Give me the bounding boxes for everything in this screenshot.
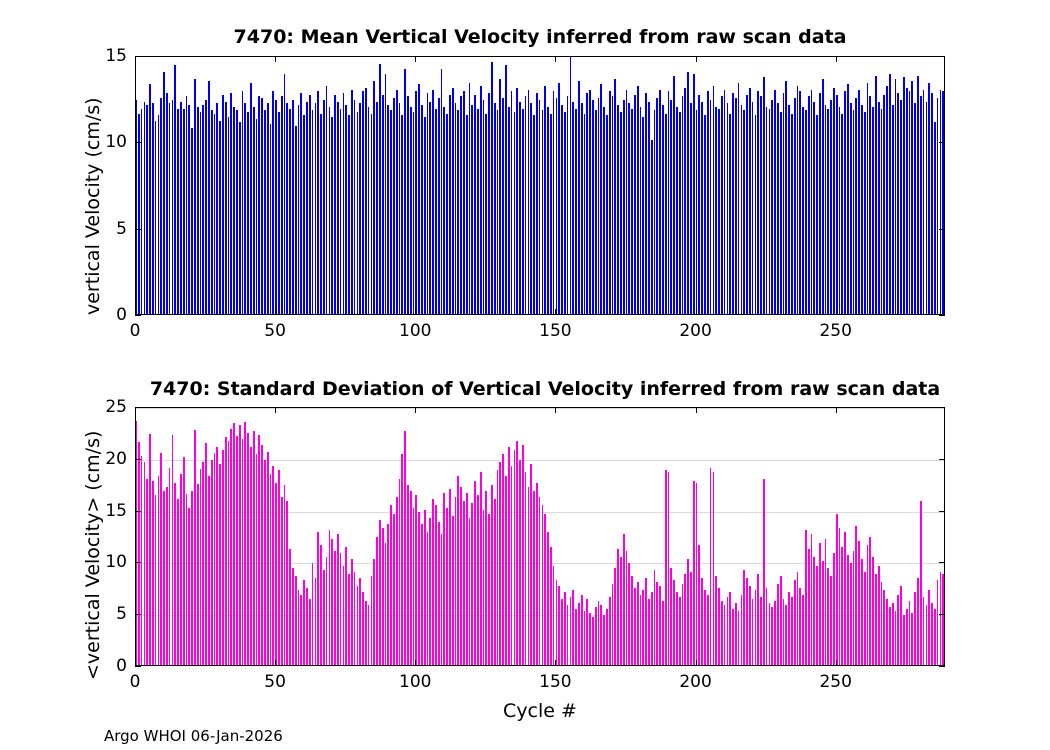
bar — [368, 107, 370, 314]
bar — [654, 110, 656, 314]
bar — [326, 557, 328, 665]
bar — [780, 576, 782, 665]
bar — [769, 109, 771, 314]
bar — [306, 588, 308, 665]
bar — [415, 495, 417, 665]
bar — [903, 77, 905, 314]
bar — [676, 592, 678, 665]
bar — [808, 549, 810, 665]
bar — [897, 93, 899, 314]
y-tick-label: 10 — [91, 552, 127, 572]
bar — [320, 545, 322, 665]
bar — [421, 524, 423, 665]
bar — [553, 91, 555, 314]
bar — [741, 105, 743, 314]
bar — [783, 599, 785, 665]
bar — [236, 110, 238, 314]
bar — [713, 472, 715, 665]
chart-1-bars — [136, 57, 944, 314]
bar — [508, 107, 510, 314]
y-tick-label: 10 — [91, 132, 127, 152]
bar — [300, 93, 302, 314]
y-tick — [939, 142, 945, 143]
bar — [847, 84, 849, 314]
bar — [286, 103, 288, 314]
bar — [323, 570, 325, 665]
bar — [343, 93, 345, 314]
chart-2-plot — [135, 407, 945, 666]
bar — [743, 110, 745, 314]
bar — [906, 609, 908, 665]
bar — [256, 119, 258, 314]
bar — [230, 429, 232, 665]
bar — [718, 109, 720, 314]
bar — [570, 57, 572, 314]
y-tick-label: 5 — [91, 219, 127, 239]
bar — [469, 518, 471, 665]
bar — [435, 505, 437, 665]
bar — [449, 95, 451, 314]
bar — [421, 105, 423, 314]
bar — [494, 103, 496, 314]
bar — [833, 88, 835, 314]
bar — [158, 476, 160, 665]
bar — [306, 102, 308, 314]
bar — [813, 557, 815, 665]
bar — [836, 514, 838, 665]
bar — [499, 79, 501, 314]
bar — [401, 115, 403, 314]
bar — [144, 102, 146, 314]
bar — [614, 568, 616, 665]
bar — [547, 107, 549, 314]
bar — [317, 91, 319, 314]
bar — [727, 103, 729, 314]
bar — [872, 107, 874, 314]
x-tick — [555, 407, 556, 413]
bar — [911, 613, 913, 665]
bar — [174, 65, 176, 314]
bar — [174, 483, 176, 665]
bar — [244, 422, 246, 665]
bar — [136, 421, 137, 665]
bar — [385, 543, 387, 665]
y-tick — [135, 56, 141, 57]
bar — [850, 103, 852, 314]
bar — [390, 110, 392, 314]
bar — [696, 110, 698, 314]
bar — [600, 605, 602, 665]
bar — [466, 493, 468, 665]
bar — [853, 551, 855, 665]
bar — [424, 117, 426, 314]
bar — [553, 566, 555, 665]
bar — [612, 96, 614, 314]
bar — [727, 597, 729, 665]
bar — [432, 90, 434, 314]
bar — [797, 86, 799, 314]
bar — [141, 456, 143, 665]
bar — [634, 95, 636, 314]
bar — [757, 91, 759, 314]
bar — [626, 90, 628, 314]
bar — [799, 588, 801, 665]
bar — [909, 601, 911, 665]
bar — [883, 590, 885, 665]
bar — [253, 431, 255, 665]
x-tick-label: 150 — [539, 672, 571, 692]
bar — [399, 479, 401, 665]
bar — [788, 592, 790, 665]
bar — [508, 447, 510, 665]
bar — [704, 590, 706, 665]
bar — [244, 103, 246, 314]
bar — [354, 572, 356, 665]
bar — [777, 584, 779, 665]
bar — [205, 100, 207, 314]
bar — [286, 501, 288, 665]
bar — [429, 518, 431, 665]
bar — [542, 505, 544, 665]
bar — [317, 532, 319, 665]
x-tick — [696, 309, 697, 315]
bar — [889, 607, 891, 665]
bar — [774, 90, 776, 314]
bar — [242, 91, 244, 314]
bar — [937, 580, 939, 665]
bar — [471, 503, 473, 665]
bar — [348, 574, 350, 665]
bar — [631, 576, 633, 665]
bar — [673, 580, 675, 665]
bar — [864, 112, 866, 314]
bar — [309, 95, 311, 314]
bar — [443, 493, 445, 665]
x-tick-label: 250 — [819, 321, 851, 341]
bar — [841, 547, 843, 665]
bar — [345, 105, 347, 314]
bar — [766, 107, 768, 314]
bar — [457, 110, 459, 314]
x-tick-label: 0 — [130, 672, 141, 692]
bar — [155, 495, 157, 665]
bar — [721, 96, 723, 314]
bar — [149, 434, 151, 665]
bar — [362, 592, 364, 665]
bar — [836, 95, 838, 314]
bar — [830, 576, 832, 665]
bar — [485, 114, 487, 314]
x-tick-label: 250 — [819, 672, 851, 692]
bar — [892, 603, 894, 665]
bar — [410, 107, 412, 314]
bar — [519, 102, 521, 314]
bar — [497, 470, 499, 665]
bar — [365, 601, 367, 665]
bar — [917, 76, 919, 314]
bar — [589, 613, 591, 665]
y-tick-label: 0 — [91, 656, 127, 676]
bar — [373, 559, 375, 665]
bar — [460, 96, 462, 314]
bar — [634, 588, 636, 665]
bar — [216, 447, 218, 665]
bar — [606, 609, 608, 665]
bar — [432, 499, 434, 665]
bar — [861, 105, 863, 314]
x-tick — [415, 407, 416, 413]
bar — [247, 112, 249, 314]
bar — [188, 105, 190, 314]
bar — [539, 100, 541, 314]
bar — [312, 563, 314, 665]
bar — [752, 102, 754, 314]
bar — [690, 103, 692, 314]
bar — [315, 578, 317, 665]
bar — [561, 105, 563, 314]
x-tick — [555, 56, 556, 62]
bar — [326, 86, 328, 314]
bar — [418, 512, 420, 665]
x-tick — [275, 407, 276, 413]
bar — [429, 102, 431, 314]
bar — [802, 595, 804, 665]
bar — [261, 98, 263, 314]
bar — [396, 497, 398, 665]
bar — [275, 483, 277, 665]
bar — [488, 93, 490, 314]
bar — [270, 474, 272, 665]
bar — [864, 572, 866, 665]
bar — [483, 100, 485, 314]
y-tick — [939, 511, 945, 512]
bar — [788, 105, 790, 314]
bar — [379, 520, 381, 665]
bar — [359, 578, 361, 665]
bar — [746, 578, 748, 665]
bar — [200, 469, 202, 665]
bar — [805, 530, 807, 665]
bar — [219, 121, 221, 314]
bar — [295, 126, 297, 314]
bar — [940, 90, 942, 314]
bar — [284, 485, 286, 665]
bar — [665, 114, 667, 314]
bar — [595, 110, 597, 314]
x-tick — [555, 309, 556, 315]
bar — [878, 102, 880, 314]
x-tick-label: 0 — [130, 321, 141, 341]
y-tick — [939, 614, 945, 615]
bar — [427, 532, 429, 665]
bar — [371, 576, 373, 665]
bar — [441, 534, 443, 665]
x-tick-label: 50 — [264, 672, 286, 692]
bar — [797, 572, 799, 665]
bar — [839, 107, 841, 314]
x-tick — [696, 56, 697, 62]
bar — [530, 464, 532, 665]
bar — [250, 83, 252, 314]
bar — [883, 95, 885, 314]
bar — [679, 597, 681, 665]
bar — [373, 81, 375, 314]
bar — [783, 93, 785, 314]
bar — [724, 605, 726, 665]
bar — [718, 588, 720, 665]
x-tick — [415, 660, 416, 666]
bar — [256, 454, 258, 665]
bar — [895, 611, 897, 665]
y-tick — [939, 56, 945, 57]
bar — [404, 431, 406, 665]
bar — [186, 494, 188, 665]
bar — [567, 96, 569, 314]
bar — [180, 474, 182, 665]
bar — [393, 98, 395, 314]
bar — [642, 590, 644, 665]
bar — [514, 450, 516, 665]
bar — [648, 599, 650, 665]
x-tick-label: 100 — [399, 672, 431, 692]
bar — [138, 442, 140, 665]
bar — [236, 436, 238, 665]
bar — [272, 91, 274, 314]
bar — [452, 516, 454, 665]
bar — [819, 543, 821, 665]
chart-1-title: 7470: Mean Vertical Velocity inferred fr… — [135, 26, 945, 48]
bar — [911, 81, 913, 314]
bar — [163, 72, 165, 314]
bar — [931, 93, 933, 314]
bar — [289, 549, 291, 665]
bar — [483, 510, 485, 665]
bar — [827, 109, 829, 314]
bar — [267, 103, 269, 314]
bar — [438, 522, 440, 665]
bar — [937, 98, 939, 314]
bar — [813, 102, 815, 314]
bar — [687, 559, 689, 665]
bar — [651, 592, 653, 665]
bar — [878, 566, 880, 665]
bar — [589, 90, 591, 314]
bar — [822, 79, 824, 314]
bar — [334, 551, 336, 665]
bar — [617, 549, 619, 665]
bar — [446, 508, 448, 665]
bar — [160, 98, 162, 314]
bar — [303, 115, 305, 314]
bar — [281, 96, 283, 314]
bar — [183, 457, 185, 665]
bar — [200, 112, 202, 314]
bar — [158, 115, 160, 314]
bar — [351, 90, 353, 314]
bar — [144, 462, 146, 665]
x-tick — [836, 309, 837, 315]
bar — [202, 105, 204, 314]
bar — [474, 481, 476, 665]
bar — [867, 83, 869, 314]
chart-1-plotarea — [136, 57, 944, 314]
bar — [755, 590, 757, 665]
bar — [443, 107, 445, 314]
bar — [645, 578, 647, 665]
bar — [575, 109, 577, 314]
y-tick-label: 0 — [91, 305, 127, 325]
bar — [544, 514, 546, 665]
bar — [875, 574, 877, 665]
bar — [197, 107, 199, 314]
bar — [763, 479, 765, 665]
bar — [300, 595, 302, 665]
bar — [219, 464, 221, 665]
y-tick-label: 15 — [91, 501, 127, 521]
bar — [668, 91, 670, 314]
bar — [640, 107, 642, 314]
bar — [160, 453, 162, 665]
bar — [584, 611, 586, 665]
bar — [830, 100, 832, 314]
bar — [581, 103, 583, 314]
bar — [794, 98, 796, 314]
bar — [844, 532, 846, 665]
x-tick — [415, 56, 416, 62]
bar — [732, 93, 734, 314]
bar — [642, 117, 644, 314]
x-tick — [836, 56, 837, 62]
bar — [424, 510, 426, 665]
bar — [609, 91, 611, 314]
bar — [732, 609, 734, 665]
bar — [609, 597, 611, 665]
bar — [522, 445, 524, 665]
bar — [771, 607, 773, 665]
bar — [869, 96, 871, 314]
bar — [415, 91, 417, 314]
bar — [715, 576, 717, 665]
bar — [480, 472, 482, 665]
bar — [407, 96, 409, 314]
bar — [572, 590, 574, 665]
bar — [387, 524, 389, 665]
figure: 7470: Mean Vertical Velocity inferred fr… — [0, 0, 1050, 750]
bar — [926, 605, 928, 665]
bar — [906, 88, 908, 314]
bar — [418, 84, 420, 314]
y-tick — [135, 459, 141, 460]
bar — [640, 595, 642, 665]
bar — [329, 530, 331, 665]
bar — [449, 489, 451, 665]
bar — [376, 537, 378, 665]
bar — [819, 93, 821, 314]
bar — [920, 501, 922, 665]
bar — [267, 452, 269, 665]
bar — [914, 103, 916, 314]
bar — [138, 114, 140, 314]
bar — [855, 526, 857, 665]
bar — [738, 83, 740, 314]
bar — [149, 84, 151, 314]
bar — [662, 601, 664, 665]
bar — [897, 595, 899, 665]
bar — [452, 88, 454, 314]
bar — [514, 112, 516, 314]
bar — [575, 609, 577, 665]
bar — [827, 568, 829, 665]
